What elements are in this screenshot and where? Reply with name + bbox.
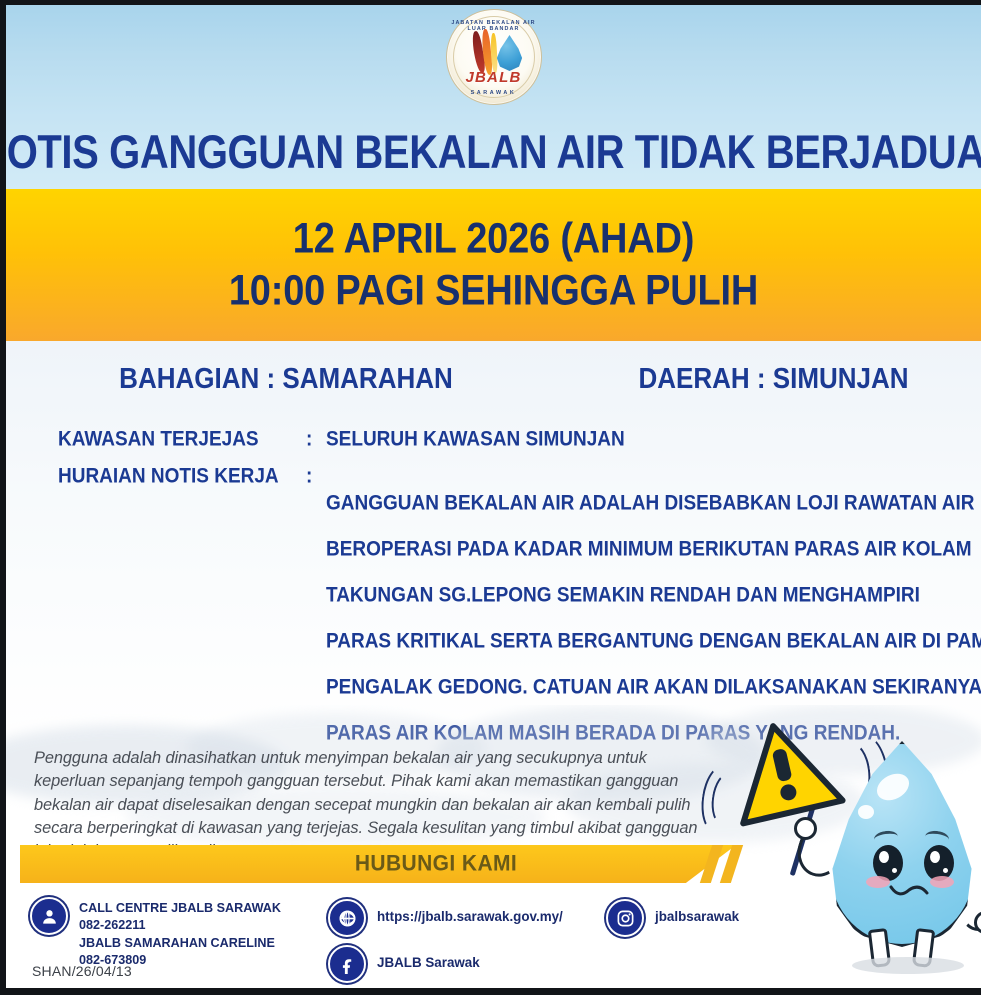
- facebook-icon: [328, 945, 366, 983]
- contact-website[interactable]: https://jbalb.sarawak.gov.my/: [328, 899, 563, 937]
- instagram-handle: jbalbsarawak: [655, 899, 739, 927]
- notice-body: BAHAGIAN : SAMARAHAN DAERAH : SIMUNJAN K…: [6, 341, 981, 736]
- logo-wordmark: JBALB: [446, 69, 542, 86]
- contact-heading-bar: HUBUNGI KAMI: [20, 845, 736, 883]
- region-row: BAHAGIAN : SAMARAHAN DAERAH : SIMUNJAN: [6, 363, 981, 394]
- work-description-line: BEROPERASI PADA KADAR MINIMUM BERIKUTAN …: [326, 524, 981, 575]
- contact-facebook[interactable]: JBALB Sarawak: [328, 945, 480, 983]
- schedule-date: 12 APRIL 2026 (AHAD): [293, 209, 694, 268]
- careline-name: JBALB SAMARAHAN CARELINE: [79, 935, 281, 952]
- call-centre-number: 082-262211: [79, 917, 281, 934]
- schedule-time: 10:00 PAGI SEHINGGA PULIH: [229, 262, 758, 321]
- division-label: BAHAGIAN : SAMARAHAN: [6, 361, 566, 395]
- mascot-blush: [930, 876, 954, 888]
- work-description-line: TAKUNGAN SG.LEPONG SEMAKIN RENDAH DAN ME…: [326, 570, 981, 621]
- mascot-hand: [794, 817, 817, 840]
- reference-code: SHAN/26/04/13: [32, 963, 132, 979]
- logo-arc-bottom-text: SARAWAK: [446, 90, 542, 96]
- affected-area-colon: :: [306, 428, 326, 453]
- contact-list: CALL CENTRE JBALB SARAWAK 082-262211 JBA…: [6, 889, 981, 979]
- affected-area-label: KAWASAN TERJEJAS: [58, 428, 306, 453]
- schedule-banner: 12 APRIL 2026 (AHAD) 10:00 PAGI SEHINGGA…: [6, 189, 981, 341]
- globe-icon: [328, 899, 366, 937]
- work-description-line: GANGGUAN BEKALAN AIR ADALAH DISEBABKAN L…: [326, 478, 981, 529]
- instagram-icon: [606, 899, 644, 937]
- affected-area-value: SELURUH KAWASAN SIMUNJAN: [326, 428, 625, 453]
- work-description-line: PARAS KRITIKAL SERTA BERGANTUNG DENGAN B…: [326, 616, 981, 667]
- jbalb-logo: JABATAN BEKALAN AIR LUAR BANDAR JBALB SA…: [446, 9, 542, 105]
- page-title: NOTIS GANGGUAN BEKALAN AIR TIDAK BERJADU…: [0, 126, 981, 179]
- warning-triangle-icon: [719, 710, 848, 828]
- affected-area-field: KAWASAN TERJEJAS : SELURUH KAWASAN SIMUN…: [58, 429, 625, 451]
- district-label: DAERAH : SIMUNJAN: [566, 361, 981, 395]
- work-description-line: PENGALAK GEDONG. CATUAN AIR AKAN DILAKSA…: [326, 662, 981, 713]
- notice-poster: JABATAN BEKALAN AIR LUAR BANDAR JBALB SA…: [0, 0, 981, 995]
- facebook-handle: JBALB Sarawak: [377, 945, 480, 973]
- header-band: JABATAN BEKALAN AIR LUAR BANDAR JBALB SA…: [6, 5, 981, 117]
- person-icon: [30, 897, 68, 935]
- mascot-blush: [866, 876, 890, 888]
- contact-heading: HUBUNGI KAMI: [355, 851, 517, 876]
- work-description-colon: :: [306, 464, 326, 773]
- contact-instagram[interactable]: jbalbsarawak: [606, 899, 739, 937]
- call-centre-name: CALL CENTRE JBALB SARAWAK: [79, 900, 281, 917]
- call-centre-text: CALL CENTRE JBALB SARAWAK 082-262211 JBA…: [79, 897, 281, 970]
- website-url: https://jbalb.sarawak.gov.my/: [377, 899, 563, 927]
- work-description-label: HURAIAN NOTIS KERJA: [58, 464, 306, 773]
- contact-call-centre[interactable]: CALL CENTRE JBALB SARAWAK 082-262211 JBA…: [30, 897, 281, 970]
- title-band: NOTIS GANGGUAN BEKALAN AIR TIDAK BERJADU…: [6, 117, 981, 189]
- mascot-highlight: [858, 805, 874, 819]
